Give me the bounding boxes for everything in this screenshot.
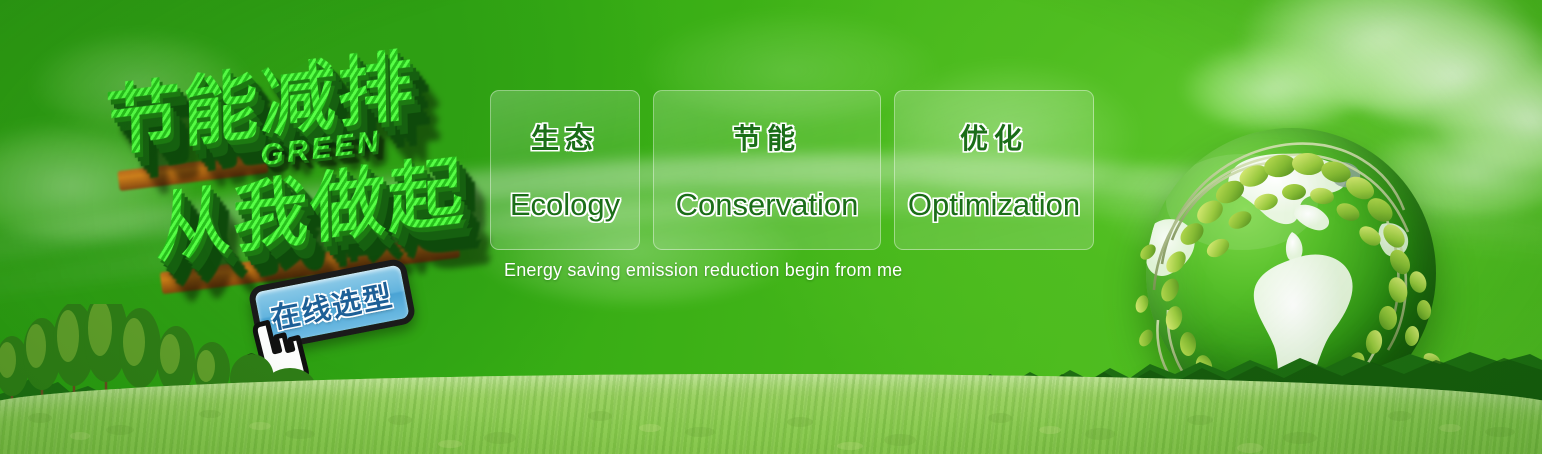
eco-promo-banner: 节能减排 GREEN 从我做起 在线选型 生态 Ecology 节能 Conse… [0, 0, 1542, 454]
edge-vignette [0, 0, 1542, 454]
